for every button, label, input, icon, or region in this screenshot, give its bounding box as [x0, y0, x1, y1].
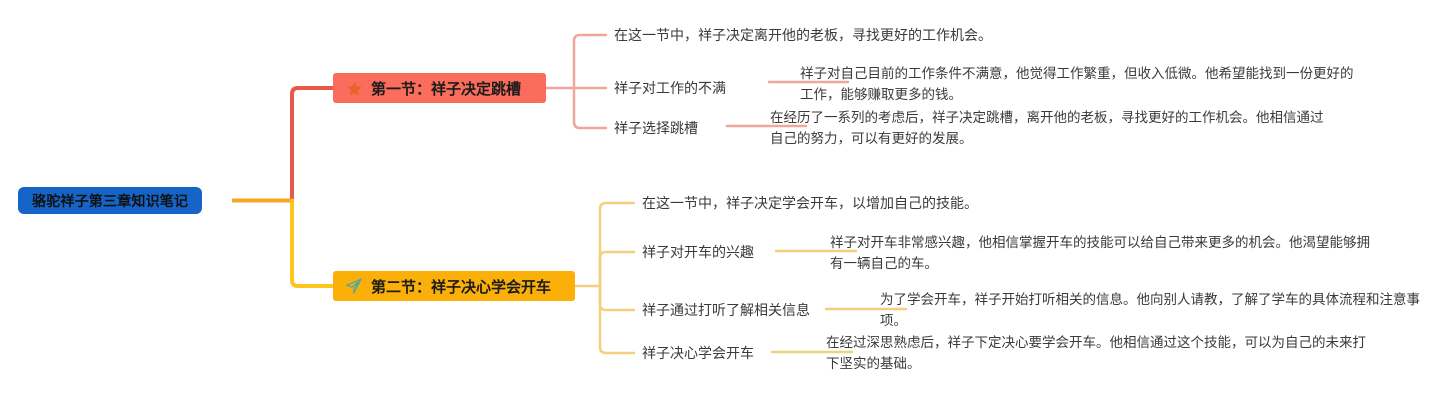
leaf-detail-s1-c2: 祥子对自己目前的工作条件不满意，他觉得工作繁重，但收入低微。他希望能找到一份更好… [800, 63, 1355, 105]
connector-section-2-child-2 [600, 252, 634, 286]
branch-node-section-1[interactable]: 第一节：祥子决定跳槽 [333, 73, 546, 103]
root-node[interactable]: 骆驼祥子第三章知识笔记 [18, 187, 202, 214]
sub-item-s2-c1[interactable]: 在这一节中，祥子决定学会开车，以增加自己的技能。 [642, 194, 978, 212]
leaf-detail-s2-c2: 祥子对开车非常感兴趣，他相信掌握开车的技能可以给自己带来更多的机会。他渴望能够拥… [830, 232, 1375, 274]
connector-section-2-child-1 [600, 203, 634, 286]
connector-root-to-section-1 [292, 88, 333, 201]
mindmap-canvas: 骆驼祥子第三章知识笔记 第一节：祥子决定跳槽 第二节：祥子决心学会开车 在这一节… [0, 0, 1453, 400]
connector-section-1-child-1 [574, 35, 606, 88]
branch-node-section-2-label: 第二节：祥子决心学会开车 [371, 276, 551, 297]
connector-section-2-child-4 [600, 286, 634, 353]
sub-item-s1-c3[interactable]: 祥子选择跳槽 [614, 119, 698, 137]
connector-section-1-child-3 [574, 88, 606, 128]
root-node-label: 骆驼祥子第三章知识笔记 [32, 191, 188, 211]
sub-item-s2-c4[interactable]: 祥子决心学会开车 [642, 344, 754, 362]
sub-item-s2-c2[interactable]: 祥子对开车的兴趣 [642, 243, 754, 261]
leaf-detail-s1-c3: 在经历了一系列的考虑后，祥子决定跳槽，离开他的老板，寻找更好的工作机会。他相信通… [770, 107, 1330, 149]
sub-item-s1-c2[interactable]: 祥子对工作的不满 [614, 79, 726, 97]
connector-section-2-child-3 [600, 286, 634, 310]
leaf-detail-s2-c3: 为了学会开车，祥子开始打听相关的信息。他向别人请教，了解了学车的具体流程和注意事… [880, 289, 1435, 331]
sub-item-s1-c1[interactable]: 在这一节中，祥子决定离开他的老板，寻找更好的工作机会。 [614, 26, 992, 44]
branch-node-section-2[interactable]: 第二节：祥子决心学会开车 [333, 271, 575, 301]
paper-plane-icon [345, 277, 363, 295]
leaf-detail-s2-c4: 在经过深思熟虑后，祥子下定决心要学会开车。他相信通过这个技能，可以为自己的未来打… [826, 332, 1371, 374]
connector-root-to-section-2 [292, 201, 333, 287]
sub-item-s2-c3[interactable]: 祥子通过打听了解相关信息 [642, 301, 810, 319]
star-icon [345, 79, 363, 97]
branch-node-section-1-label: 第一节：祥子决定跳槽 [371, 78, 521, 99]
